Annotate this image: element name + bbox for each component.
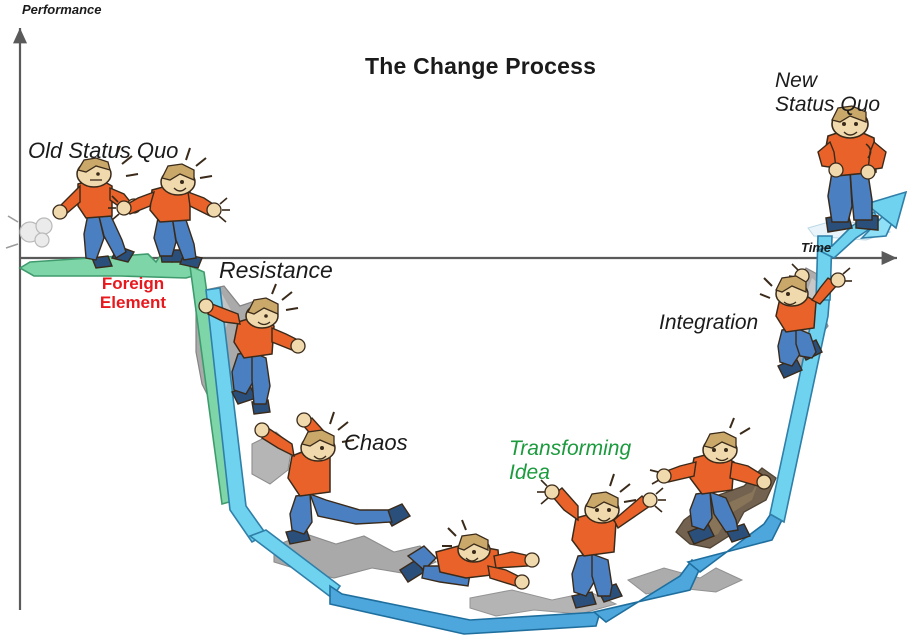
change-process-diagram: The Change Process Performance Time Old …: [0, 0, 920, 640]
stage-label-integration: Integration: [659, 311, 758, 335]
stage-label-transforming-idea: Transforming Idea: [509, 437, 631, 484]
stage-label-foreign-element: Foreign Element: [86, 274, 180, 312]
y-axis-label: Performance: [22, 3, 101, 18]
stage-label-chaos: Chaos: [344, 431, 408, 456]
page-title: The Change Process: [365, 54, 596, 80]
climb-effort-icon: [760, 278, 772, 298]
stage-label-old-status-quo: Old Status Quo: [28, 139, 178, 164]
effort-marks-icon: [730, 418, 750, 434]
figure-sprawled: [400, 520, 539, 589]
dust-puff-icon: [6, 216, 52, 248]
x-axis-label: Time: [801, 241, 831, 256]
stage-label-resistance: Resistance: [219, 258, 333, 284]
grip-hand-right-icon: [831, 268, 852, 287]
stage-label-new-status-quo: New Status Quo: [775, 69, 880, 116]
figure-standing-proud: [818, 106, 886, 232]
pointing-hand-icon: [650, 469, 671, 484]
